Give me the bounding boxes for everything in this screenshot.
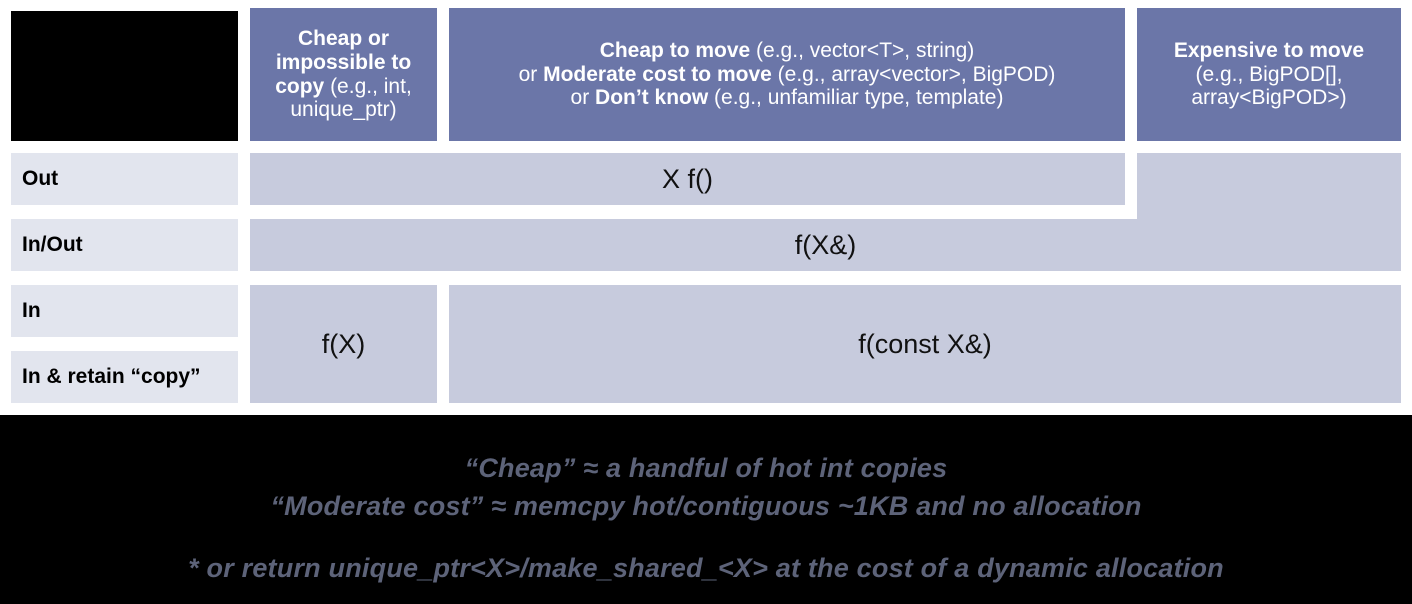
header-cheap-to-move: Cheap to move (e.g., vector<T>, string) … xyxy=(449,8,1125,141)
header-line-note: array<BigPOD>) xyxy=(1191,86,1346,109)
header-line-text: impossible to xyxy=(276,51,411,74)
row-label-text: In/Out xyxy=(22,233,83,257)
header-line-text: Moderate cost to move xyxy=(543,63,772,86)
cell-value: X f() xyxy=(662,164,713,195)
cell-value: f(const X&) xyxy=(858,329,992,360)
header-line-note: (e.g., BigPOD[], xyxy=(1195,63,1342,86)
header-line-text: copy xyxy=(275,75,324,98)
header-line-prefix: or xyxy=(519,63,544,86)
row-label-text: In xyxy=(22,299,41,323)
header-expensive-to-move: Expensive to move (e.g., BigPOD[], array… xyxy=(1137,8,1401,141)
header-line-note: (e.g., array<vector>, BigPOD) xyxy=(772,63,1056,86)
parameter-passing-table: Cheap or impossible to copy (e.g., int, … xyxy=(0,0,1412,415)
row-label-out: Out xyxy=(11,153,238,205)
cell-in-f-x: f(X) xyxy=(250,285,437,403)
row-label-text: Out xyxy=(22,167,58,191)
footnote-moderate-cost: “Moderate cost” ≈ memcpy hot/contiguous … xyxy=(0,491,1412,522)
row-label-in-retain-copy: In & retain “copy” xyxy=(11,351,238,403)
header-line-text: Cheap to move xyxy=(600,39,751,62)
table-corner-block xyxy=(11,11,238,141)
cell-in-f-const-xref: f(const X&) xyxy=(449,285,1401,403)
header-line-note: (e.g., int, xyxy=(324,75,412,98)
header-line-note: (e.g., vector<T>, string) xyxy=(750,39,974,62)
cell-value: f(X&) xyxy=(795,230,857,261)
row-label-in-out: In/Out xyxy=(11,219,238,271)
row-label-text: In & retain “copy” xyxy=(22,365,201,389)
footnotes-area: “Cheap” ≈ a handful of hot int copies “M… xyxy=(0,415,1412,604)
header-line-note: unique_ptr) xyxy=(290,98,396,121)
header-cheap-or-impossible-to-copy: Cheap or impossible to copy (e.g., int, … xyxy=(250,8,437,141)
header-line-note: (e.g., unfamiliar type, template) xyxy=(708,86,1003,109)
header-line-text: Cheap or xyxy=(298,27,389,50)
header-line-text: Don’t know xyxy=(595,86,708,109)
cell-value: f(X) xyxy=(322,329,366,360)
header-line-text: Expensive to move xyxy=(1174,39,1364,62)
row-label-in: In xyxy=(11,285,238,337)
cell-out-x-f: X f() xyxy=(250,153,1125,205)
cell-inout-f-xref: f(X&) xyxy=(250,219,1401,271)
slide-root: Cheap or impossible to copy (e.g., int, … xyxy=(0,0,1412,604)
footnote-cheap: “Cheap” ≈ a handful of hot int copies xyxy=(0,453,1412,484)
header-line-prefix: or xyxy=(571,86,596,109)
footnote-return-unique-ptr: * or return unique_ptr<X>/make_shared_<X… xyxy=(0,553,1412,584)
